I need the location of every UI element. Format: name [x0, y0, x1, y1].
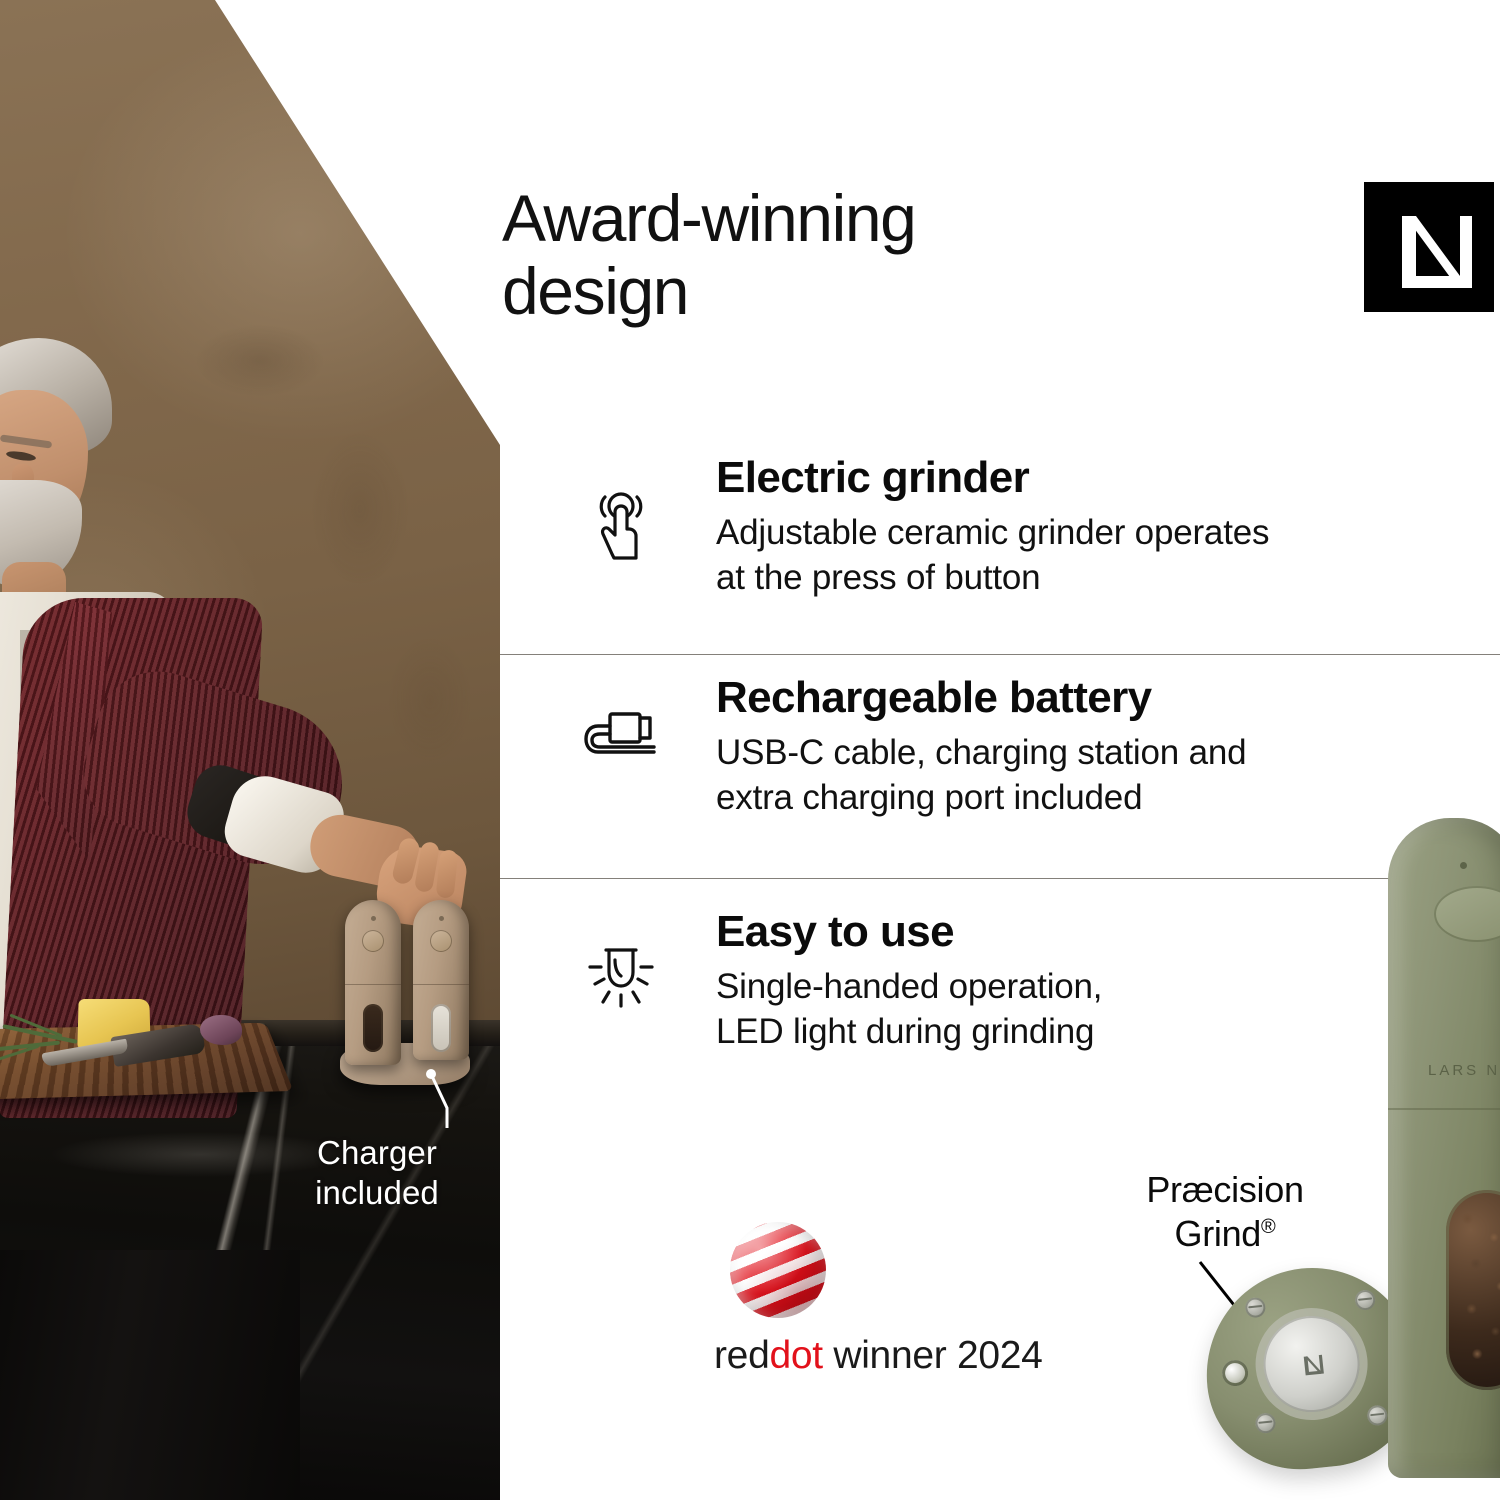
screw: [1354, 1289, 1376, 1311]
charger-included-callout: Charger included: [270, 1133, 484, 1214]
charger-callout-line-2: included: [270, 1173, 484, 1213]
screw: [1244, 1297, 1266, 1319]
ln-monogram-icon: [1293, 1345, 1330, 1382]
peppercorn-view-window: [1446, 1190, 1500, 1390]
grind-adjustment-dial: [1259, 1311, 1365, 1417]
grinder-led-light: [1221, 1359, 1250, 1388]
grinder-seam: [1388, 1108, 1500, 1110]
screw: [1366, 1404, 1388, 1426]
lifestyle-photo: Charger included: [0, 0, 500, 1500]
charger-callout-line-1: Charger: [270, 1133, 484, 1173]
grinder-power-button: [1434, 886, 1500, 942]
grinder-indicator-led: [1460, 862, 1467, 869]
content-panel: Award-winning design Electric grinder: [500, 0, 1500, 1500]
pepper-grinder-green: LARS NYS: [1388, 818, 1500, 1478]
brand-imprint: LARS NYS: [1428, 1062, 1500, 1079]
screw: [1255, 1412, 1277, 1434]
